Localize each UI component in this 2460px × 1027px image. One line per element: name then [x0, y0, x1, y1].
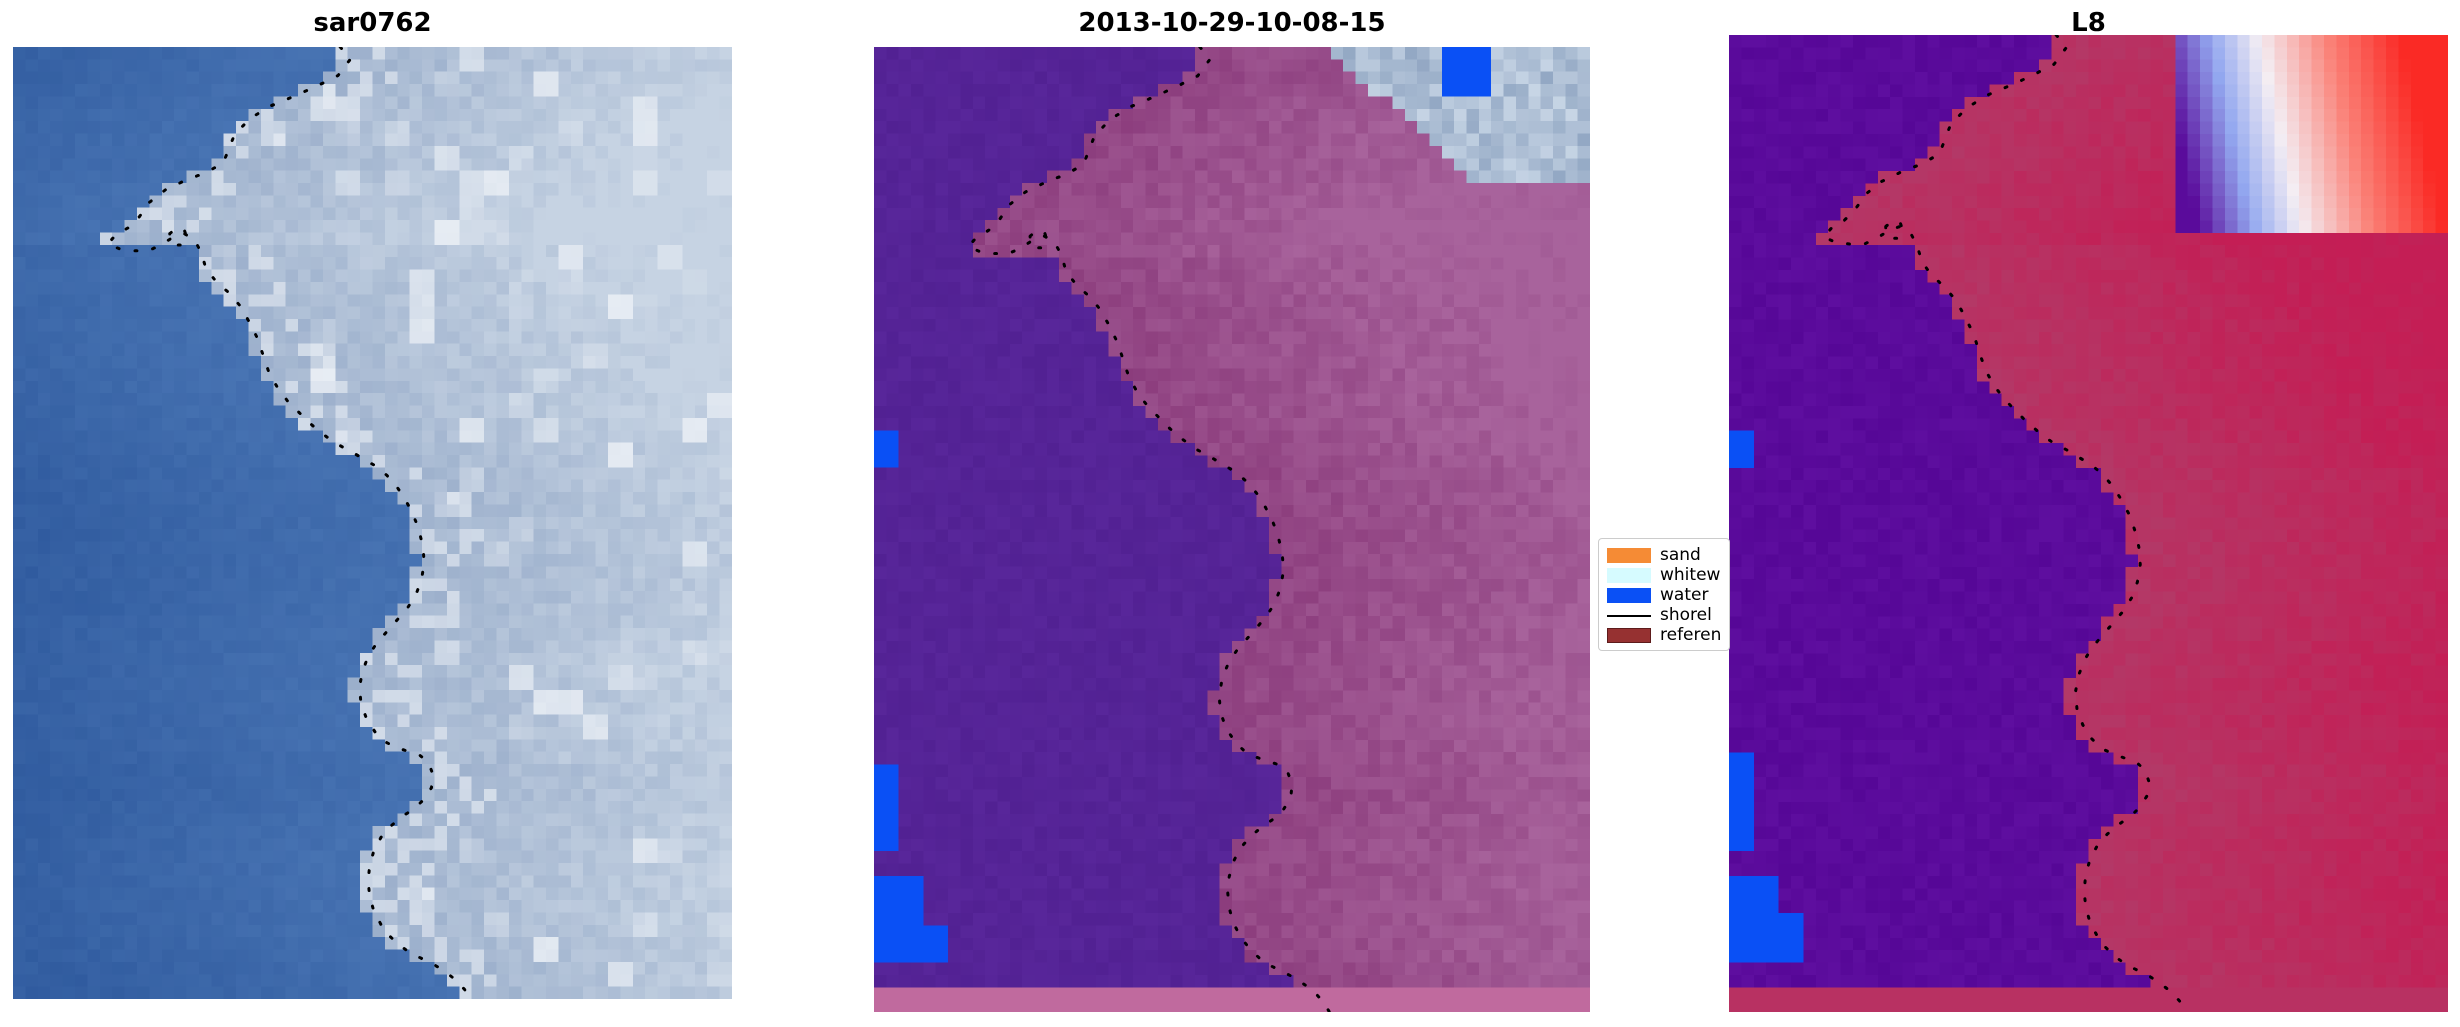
shoreline-line-icon	[1607, 608, 1651, 623]
legend-item-shoreline[interactable]: shorel	[1599, 605, 1729, 625]
raster-index	[1729, 35, 2448, 1012]
legend-item-whitewater[interactable]: whitew	[1599, 565, 1729, 585]
shoreline-contour	[13, 47, 732, 999]
legend-item-water[interactable]: water	[1599, 585, 1729, 605]
raster-rgb	[13, 47, 732, 999]
reference-swatch-icon	[1607, 628, 1651, 643]
legend-label-reference: referen	[1660, 625, 1721, 645]
raster-classified	[874, 47, 1590, 1012]
legend-label-shoreline: shorel	[1660, 605, 1712, 625]
legend-label-sand: sand	[1660, 545, 1701, 565]
figure-canvas: sar0762 2013-10-29-10-08-15 L8 sand whit…	[0, 0, 2460, 1027]
shoreline-contour	[1729, 35, 2448, 1012]
legend-label-whitewater: whitew	[1660, 565, 1720, 585]
legend-item-reference[interactable]: referen	[1599, 625, 1729, 645]
shoreline-contour	[874, 47, 1590, 1012]
legend-label-water: water	[1660, 585, 1708, 605]
panel-title-2: 2013-10-29-10-08-15	[874, 6, 1590, 40]
legend-box[interactable]: sand whitew water shorel referen	[1598, 538, 1730, 651]
legend-item-sand[interactable]: sand	[1599, 545, 1729, 565]
panel-index-heatmap[interactable]	[1729, 35, 2448, 1012]
panel-rgb-satellite[interactable]	[13, 47, 732, 999]
panel-title-1: sar0762	[13, 6, 732, 40]
sand-swatch-icon	[1607, 548, 1651, 563]
panel-classification-overlay[interactable]	[874, 47, 1590, 1012]
whitewater-swatch-icon	[1607, 568, 1651, 583]
water-swatch-icon	[1607, 588, 1651, 603]
